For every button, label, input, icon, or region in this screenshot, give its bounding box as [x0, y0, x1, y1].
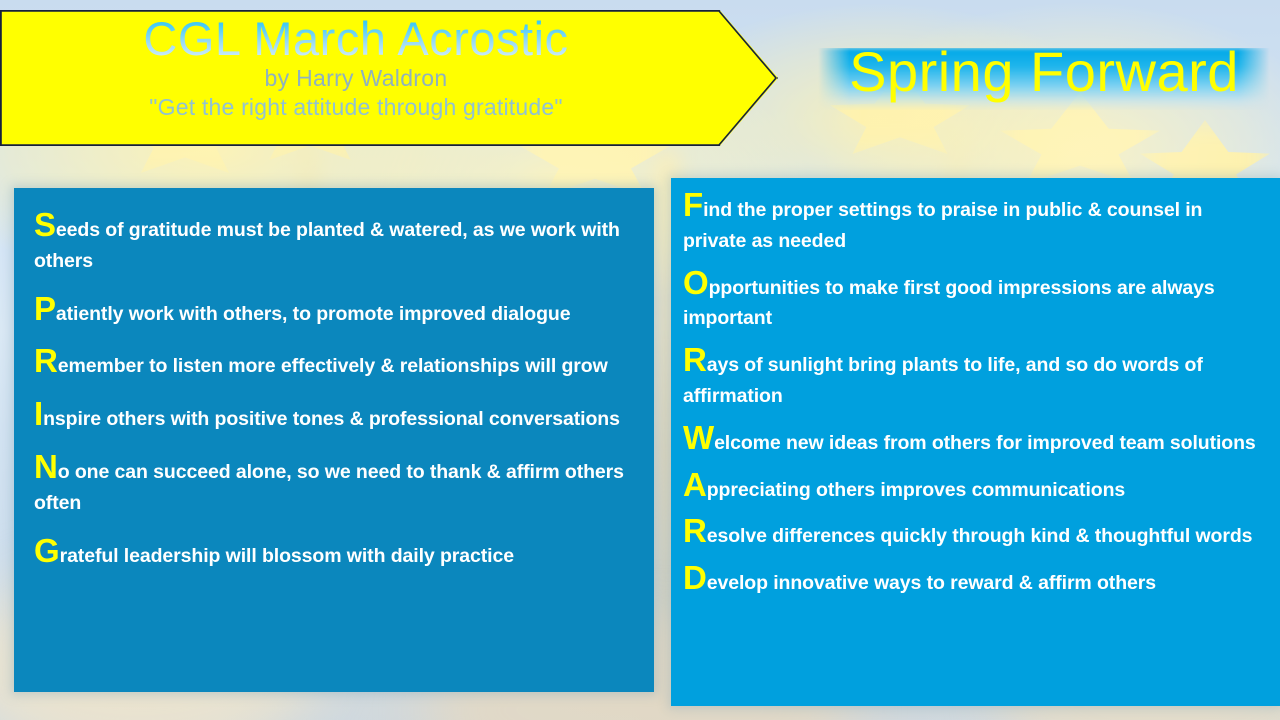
acrostic-initial: R: [34, 342, 58, 379]
acrostic-initial: D: [683, 559, 707, 596]
acrostic-text: elcome new ideas from others for improve…: [714, 432, 1256, 454]
acrostic-text: rateful leadership will blossom with dai…: [60, 545, 514, 567]
acrostic-line: Remember to listen more effectively & re…: [34, 346, 638, 382]
acrostic-initial: W: [683, 419, 714, 456]
acrostic-line: Develop innovative ways to reward & affi…: [683, 563, 1266, 599]
acrostic-initial: I: [34, 395, 43, 432]
acrostic-initial: R: [683, 512, 707, 549]
page-title: CGL March Acrostic: [0, 10, 712, 64]
acrostic-initial: A: [683, 466, 707, 503]
banner-text-block: CGL March Acrostic by Harry Waldron "Get…: [0, 10, 712, 146]
acrostic-text: emember to listen more effectively & rel…: [58, 355, 608, 377]
acrostic-line: Grateful leadership will blossom with da…: [34, 536, 638, 572]
acrostic-initial: O: [683, 264, 709, 301]
acrostic-line: Resolve differences quickly through kind…: [683, 516, 1266, 552]
acrostic-text: nspire others with positive tones & prof…: [43, 408, 620, 430]
acrostic-line: Appreciating others improves communicati…: [683, 470, 1266, 506]
title-banner: CGL March Acrostic by Harry Waldron "Get…: [0, 10, 778, 146]
acrostic-text: ays of sunlight bring plants to life, an…: [683, 354, 1203, 407]
acrostic-line: Welcome new ideas from others for improv…: [683, 423, 1266, 459]
acrostic-initial: R: [683, 341, 707, 378]
acrostic-panel-forward: Find the proper settings to praise in pu…: [671, 178, 1280, 706]
acrostic-text: pportunities to make first good impressi…: [683, 277, 1215, 330]
acrostic-initial: S: [34, 206, 56, 243]
acrostic-text: ind the proper settings to praise in pub…: [683, 199, 1202, 252]
acrostic-line: Find the proper settings to praise in pu…: [683, 190, 1266, 257]
acrostic-text: atiently work with others, to promote im…: [56, 303, 571, 325]
acrostic-line: No one can succeed alone, so we need to …: [34, 452, 638, 519]
acrostic-line: Inspire others with positive tones & pro…: [34, 399, 638, 435]
acrostic-initial: F: [683, 186, 703, 223]
heading-text: Spring Forward: [818, 40, 1270, 104]
acrostic-line: Seeds of gratitude must be planted & wat…: [34, 210, 638, 277]
acrostic-text: evelop innovative ways to reward & affir…: [707, 572, 1156, 594]
acrostic-list-forward: Find the proper settings to praise in pu…: [683, 190, 1266, 599]
tagline: "Get the right attitude through gratitud…: [0, 91, 712, 120]
acrostic-text: ppreciating others improves communicatio…: [707, 479, 1125, 501]
acrostic-text: esolve differences quickly through kind …: [707, 525, 1253, 547]
spring-forward-heading: Spring Forward: [818, 48, 1270, 110]
acrostic-line: Patiently work with others, to promote i…: [34, 294, 638, 330]
acrostic-text: eeds of gratitude must be planted & wate…: [34, 219, 620, 272]
slide-canvas: CGL March Acrostic by Harry Waldron "Get…: [0, 0, 1280, 720]
acrostic-initial: N: [34, 448, 58, 485]
acrostic-initial: P: [34, 290, 56, 327]
acrostic-text: o one can succeed alone, so we need to t…: [34, 461, 624, 514]
acrostic-panel-spring: Seeds of gratitude must be planted & wat…: [14, 188, 654, 692]
acrostic-list-spring: Seeds of gratitude must be planted & wat…: [34, 210, 638, 571]
author-byline: by Harry Waldron: [0, 64, 712, 91]
acrostic-line: Opportunities to make first good impress…: [683, 268, 1266, 335]
acrostic-initial: G: [34, 532, 60, 569]
acrostic-line: Rays of sunlight bring plants to life, a…: [683, 345, 1266, 412]
